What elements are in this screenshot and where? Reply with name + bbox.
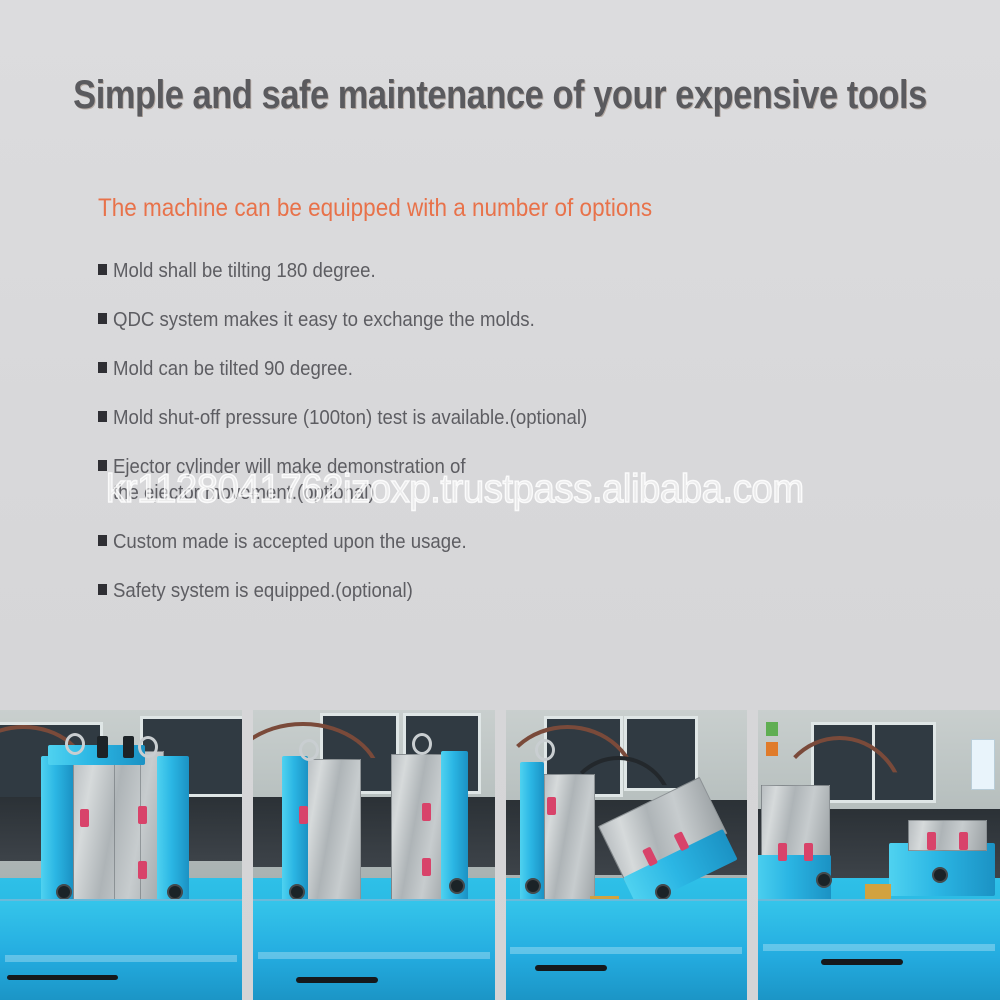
list-item: Mold shall be tilting 180 degree. (98, 258, 818, 284)
machine-base (253, 899, 495, 1000)
steel-mold-half-right (391, 754, 446, 924)
product-photo-strip (0, 710, 1000, 1000)
hydraulic-clamp (422, 858, 431, 876)
cylinder-port (525, 878, 541, 894)
hydraulic-clamp (959, 832, 968, 850)
hydraulic-clamp (138, 861, 147, 879)
square-bullet-icon (98, 584, 107, 595)
base-rail (5, 955, 237, 962)
list-item-label: Safety system is equipped.(optional) (113, 578, 413, 604)
product-photo-3 (506, 710, 748, 1000)
power-cable (7, 975, 118, 980)
photo-3-scene (506, 710, 748, 1000)
list-item: Mold shut-off pressure (100ton) test is … (98, 405, 818, 431)
square-bullet-icon (98, 313, 107, 324)
square-bullet-icon (98, 460, 107, 471)
hydraulic-clamp (804, 843, 813, 861)
square-bullet-icon (98, 362, 107, 373)
slide-canvas: Simple and safe maintenance of your expe… (0, 0, 1000, 1000)
list-item: Custom made is accepted upon the usage. (98, 529, 818, 555)
lifting-eye-icon (535, 739, 555, 761)
cylinder-port (932, 867, 948, 883)
feature-bullet-list: Mold shall be tilting 180 degree. QDC sy… (98, 258, 818, 627)
list-item: QDC system makes it easy to exchange the… (98, 307, 818, 333)
cylinder-port (167, 884, 183, 900)
cylinder-port (289, 884, 305, 900)
square-bullet-icon (98, 535, 107, 546)
photo-4-scene (758, 710, 1000, 1000)
power-cable (296, 977, 378, 983)
list-item-label: Custom made is accepted upon the usage. (113, 529, 467, 555)
list-item-label: QDC system makes it easy to exchange the… (113, 307, 535, 333)
hydraulic-clamp (422, 803, 431, 821)
hydraulic-clamp (138, 806, 147, 824)
power-cable (535, 965, 608, 971)
cylinder-port (449, 878, 465, 894)
qdc-clamp (123, 736, 134, 758)
product-photo-1 (0, 710, 242, 1000)
hydraulic-clamp (299, 806, 308, 824)
hydraulic-clamp (927, 832, 936, 850)
qdc-clamp (97, 736, 108, 758)
hydraulic-clamp (547, 797, 556, 815)
wall-tag-orange (766, 742, 778, 757)
square-bullet-icon (98, 264, 107, 275)
base-rail (510, 947, 742, 954)
hydraulic-clamp (80, 809, 89, 827)
steel-mold-stationary (544, 774, 594, 915)
lifting-eye-icon (299, 739, 319, 761)
wall-paper-note (971, 739, 995, 790)
wall-tag-green (766, 722, 778, 737)
list-item-label: Mold can be tilted 90 degree. (113, 356, 353, 382)
steel-mold-flat (761, 785, 831, 862)
section-subtitle: The machine can be equipped with a numbe… (98, 192, 652, 224)
cylinder-port (56, 884, 72, 900)
photo-1-scene (0, 710, 242, 1000)
base-rail (763, 944, 995, 951)
product-photo-2 (253, 710, 495, 1000)
photo-2-scene (253, 710, 495, 1000)
machine-base (0, 899, 242, 1000)
list-item: Ejector cylinder will make demonstration… (98, 454, 818, 506)
power-cable (821, 959, 903, 965)
lifting-eye-icon (138, 736, 158, 758)
list-item-label: Mold shut-off pressure (100ton) test is … (113, 405, 587, 431)
square-bullet-icon (98, 411, 107, 422)
list-item: Mold can be tilted 90 degree. (98, 356, 818, 382)
page-title: Simple and safe maintenance of your expe… (70, 72, 930, 118)
list-item-label: Ejector cylinder will make demonstration… (113, 454, 466, 506)
list-item-label: Mold shall be tilting 180 degree. (113, 258, 376, 284)
product-photo-4 (758, 710, 1000, 1000)
hydraulic-clamp (778, 843, 787, 861)
list-item: Safety system is equipped.(optional) (98, 578, 818, 604)
base-rail (258, 952, 490, 959)
steel-mold-flat-right (908, 820, 987, 851)
